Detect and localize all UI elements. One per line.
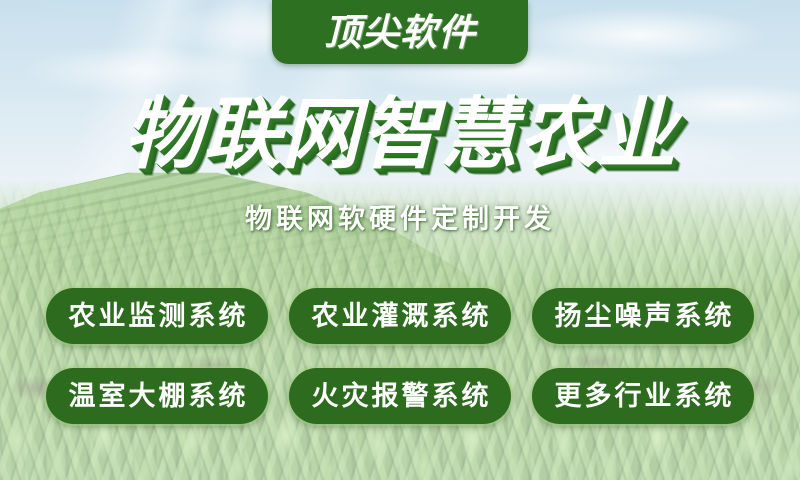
pill-label: 温室大棚系统 xyxy=(66,383,249,410)
pill-greenhouse[interactable]: 温室大棚系统 xyxy=(46,368,268,424)
pill-fire-alarm[interactable]: 火灾报警系统 xyxy=(289,368,511,424)
pill-label: 火灾报警系统 xyxy=(309,383,492,410)
pill-agriculture-irrigation[interactable]: 农业灌溉系统 xyxy=(289,288,511,344)
pill-label: 更多行业系统 xyxy=(552,383,735,410)
headline-text: 物联网智慧农业 xyxy=(123,95,676,173)
pill-label: 农业监测系统 xyxy=(66,303,249,330)
system-pill-grid: 农业监测系统 农业灌溉系统 扬尘噪声系统 温室大棚系统 火灾报警系统 更多行业系… xyxy=(46,288,754,424)
pill-agriculture-monitoring[interactable]: 农业监测系统 xyxy=(46,288,268,344)
subtitle: 物联网软硬件定制开发 xyxy=(0,206,800,233)
brand-badge: 顶尖软件 xyxy=(272,0,528,64)
subtitle-text: 物联网软硬件定制开发 xyxy=(245,206,555,233)
promo-banner: 顶尖软件 物联网智慧农业 物联网软硬件定制开发 农业监测系统 农业灌溉系统 扬尘… xyxy=(0,0,800,480)
banner-content: 顶尖软件 物联网智慧农业 物联网软硬件定制开发 农业监测系统 农业灌溉系统 扬尘… xyxy=(0,0,800,480)
headline: 物联网智慧农业 xyxy=(0,95,800,173)
pill-more-industries[interactable]: 更多行业系统 xyxy=(532,368,754,424)
pill-dust-noise[interactable]: 扬尘噪声系统 xyxy=(532,288,754,344)
brand-badge-label: 顶尖软件 xyxy=(324,14,476,51)
pill-label: 农业灌溉系统 xyxy=(309,303,492,330)
pill-label: 扬尘噪声系统 xyxy=(552,303,735,330)
